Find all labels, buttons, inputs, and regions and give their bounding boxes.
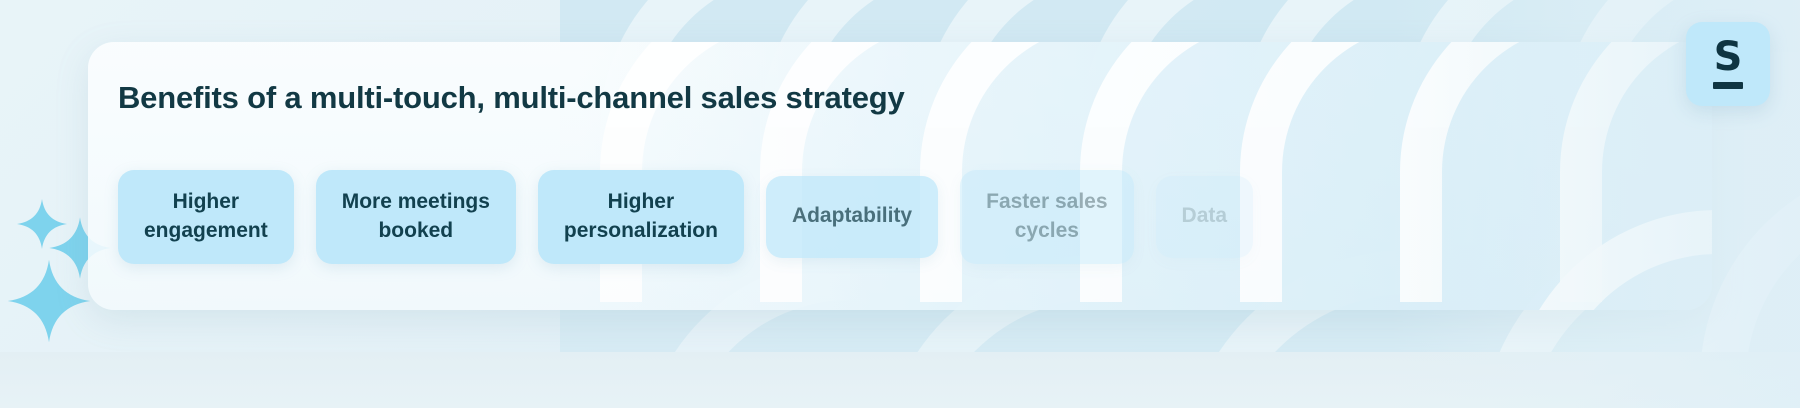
chip-line-1: Higher — [564, 188, 718, 217]
chip-line-1: Data — [1182, 202, 1228, 231]
card-arc — [1400, 42, 1590, 302]
benefits-chip-list: Higher engagement More meetings booked H… — [118, 170, 1253, 264]
benefit-chip-higher-engagement[interactable]: Higher engagement — [118, 170, 294, 264]
brand-logo-underline — [1713, 82, 1743, 89]
background-arc — [1700, 160, 1800, 408]
card-arc — [1240, 42, 1430, 302]
chip-line-2: booked — [342, 217, 490, 246]
benefit-chip-adaptability[interactable]: Adaptability — [766, 176, 938, 258]
card-arc — [1508, 210, 1712, 310]
chip-line-2: engagement — [144, 217, 268, 246]
chip-line-1: Adaptability — [792, 202, 912, 231]
brand-logo-badge[interactable]: S — [1686, 22, 1770, 106]
slide-canvas: Benefits of a multi-touch, multi-channel… — [0, 0, 1800, 408]
chip-line-1: Higher — [144, 188, 268, 217]
benefit-chip-more-meetings[interactable]: More meetings booked — [316, 170, 516, 264]
content-card: Benefits of a multi-touch, multi-channel… — [88, 42, 1712, 310]
brand-logo-letter: S — [1714, 39, 1743, 75]
benefit-chip-faster-sales-cycles[interactable]: Faster sales cycles — [960, 170, 1133, 264]
page-title: Benefits of a multi-touch, multi-channel… — [118, 80, 905, 116]
chip-line-1: More meetings — [342, 188, 490, 217]
chip-line-1: Faster sales — [986, 188, 1107, 217]
benefit-chip-higher-personalization[interactable]: Higher personalization — [538, 170, 744, 264]
chip-line-2: personalization — [564, 217, 718, 246]
background-band-bottom — [0, 352, 1800, 408]
benefit-chip-data[interactable]: Data — [1156, 176, 1254, 258]
sparkle-large-bottom-icon — [6, 258, 92, 344]
chip-line-2: cycles — [986, 217, 1107, 246]
